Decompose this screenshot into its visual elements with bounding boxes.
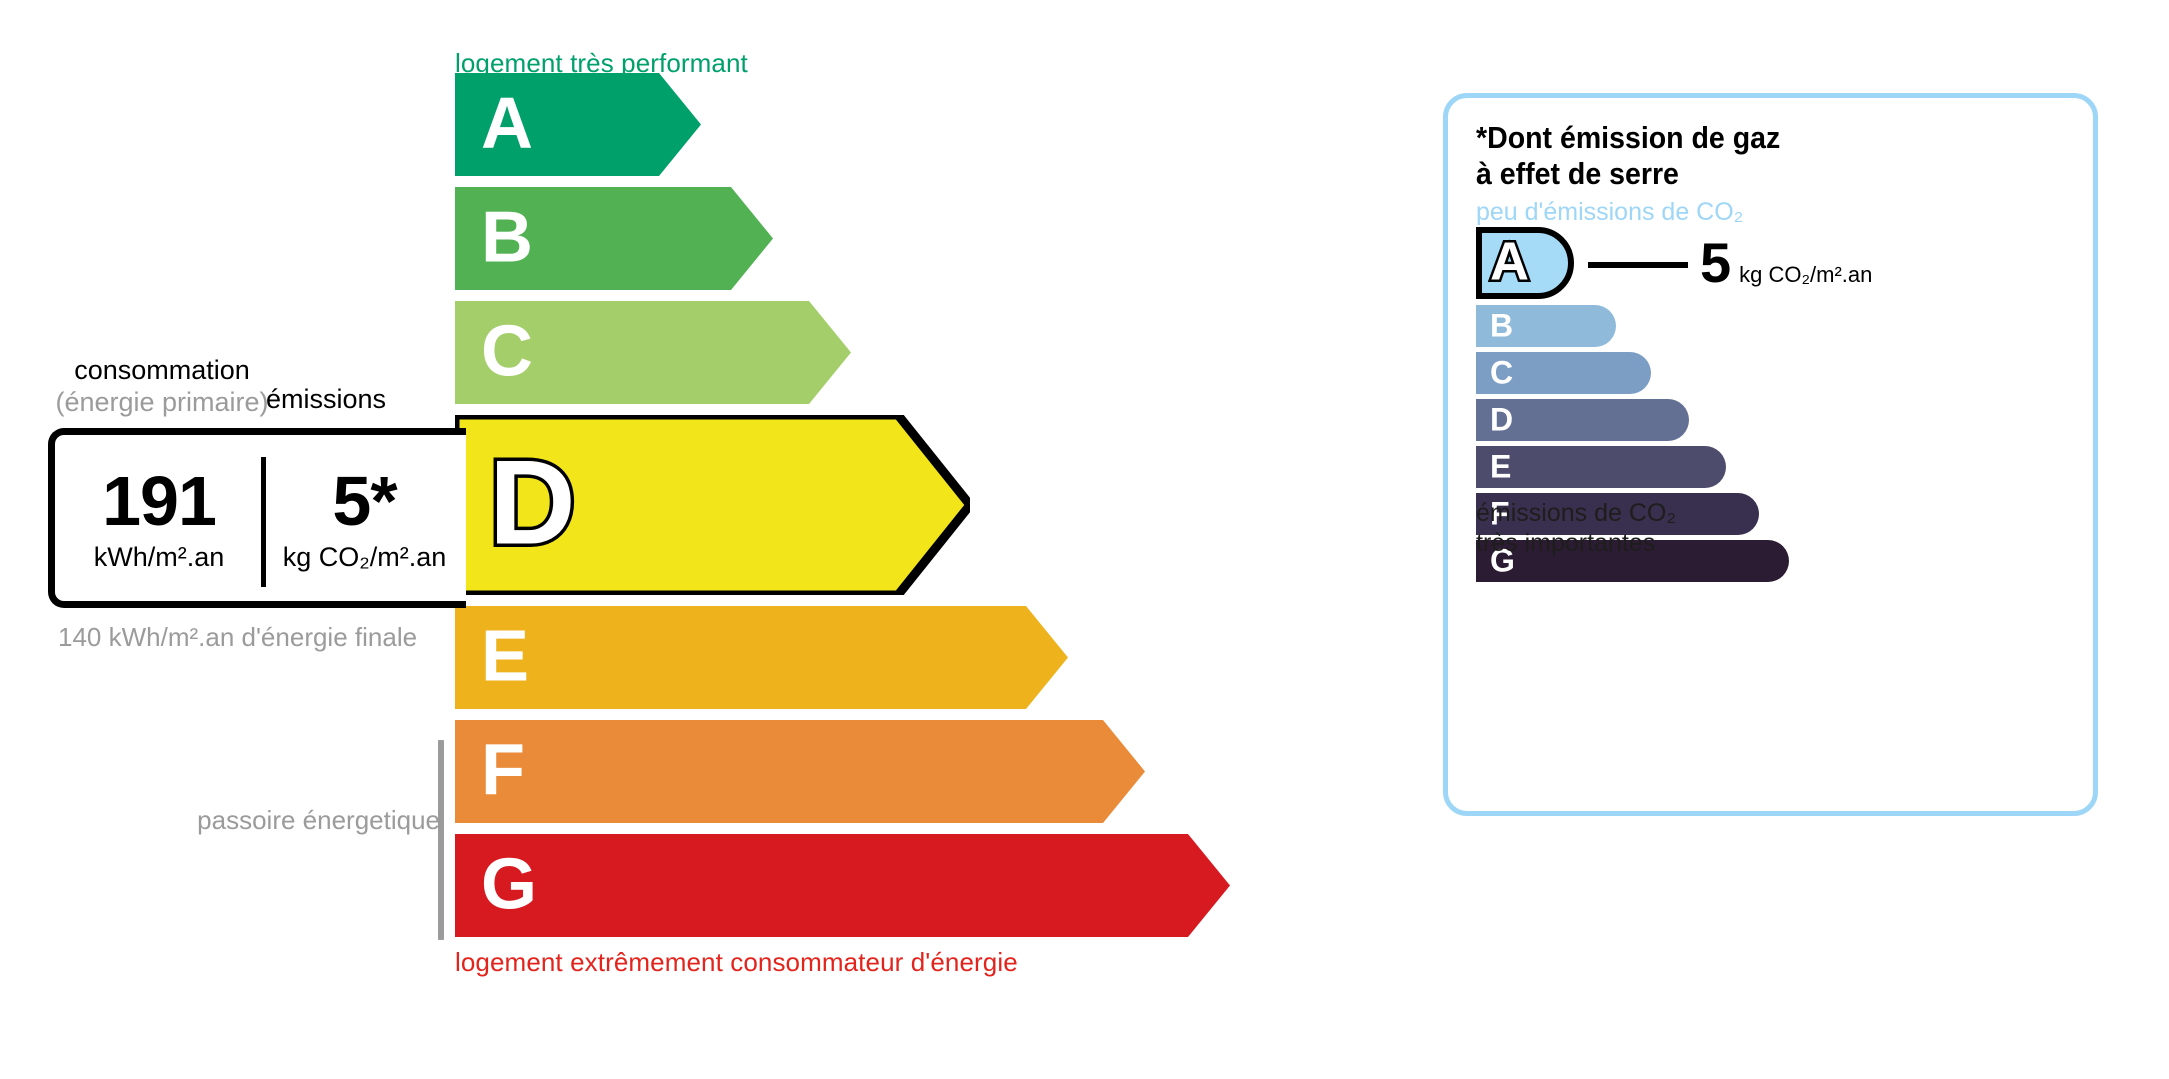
ges-bar-row-a-current[interactable]: A 5 kg CO₂/m².an [1476, 227, 2076, 299]
energy-bars-list: A B C D E F G [455, 73, 1355, 937]
emissions-header: émissions [266, 384, 386, 416]
energy-bar-row-a[interactable]: A [455, 73, 1355, 176]
ges-value: 5 [1700, 235, 1730, 291]
ges-bar-letter-a: A [1490, 234, 1529, 288]
consumption-header-sub: (énergie primaire) [52, 387, 272, 419]
energy-bar-row-b[interactable]: B [455, 187, 1355, 290]
energy-bar-letter-e: E [481, 620, 529, 692]
ges-bar-letter-b: B [1490, 309, 1513, 341]
consumption-value-cell: 191 kWh/m².an [55, 435, 263, 601]
ges-bar-row-d[interactable]: D [1476, 399, 2076, 441]
energy-bar-letter-b: B [481, 201, 533, 273]
passoire-energetique-label: passoire énergetique [160, 805, 440, 837]
energy-bar-row-f[interactable]: F [455, 720, 1355, 823]
energy-bar-letter-g: G [481, 848, 537, 920]
energy-bar-row-e[interactable]: E [455, 606, 1355, 709]
energy-bar-letter-f: F [481, 734, 525, 806]
passoire-energetique-marker [438, 740, 444, 940]
arrow-shape-g [455, 834, 1230, 937]
energy-bar-letter-a: A [481, 87, 533, 159]
consumption-header: consommation (énergie primaire) [52, 355, 272, 419]
ges-panel-title: *Dont émission de gaz à effet de serre [1476, 120, 1780, 192]
ges-bar-row-b[interactable]: B [1476, 305, 2076, 347]
scale-bottom-caption: logement extrêmement consommateur d'éner… [455, 947, 1018, 978]
emissions-value-cell: 5* kg CO₂/m².an [263, 435, 466, 601]
energy-bar-letter-d: D [489, 443, 576, 563]
ges-bar-shape-e [1476, 446, 1726, 488]
arrow-shape-f [455, 720, 1145, 823]
ges-bar-row-e[interactable]: E [1476, 446, 2076, 488]
arrow-shape-e [455, 606, 1068, 709]
energy-bar-row-c[interactable]: C [455, 301, 1355, 404]
emissions-unit: kg CO₂/m².an [283, 544, 447, 571]
consumption-unit: kWh/m².an [94, 544, 225, 571]
ges-bar-letter-c: C [1490, 356, 1513, 388]
energy-bar-row-d-current[interactable]: D [455, 415, 1355, 595]
ges-leader-line [1588, 262, 1688, 268]
energy-performance-scale: logement très performant A B C D E F [0, 0, 1400, 1079]
ges-bottom-caption: émissions de CO₂ très importantes [1476, 498, 1676, 558]
ges-bar-row-c[interactable]: C [1476, 352, 2076, 394]
ges-bar-letter-d: D [1490, 403, 1513, 435]
ges-top-caption: peu d'émissions de CO₂ [1476, 198, 1743, 227]
emissions-value: 5* [332, 466, 396, 536]
ges-value-callout: 5 kg CO₂/m².an [1700, 235, 1872, 291]
final-energy-note: 140 kWh/m².an d'énergie finale [58, 622, 417, 654]
ges-bar-letter-e: E [1490, 450, 1511, 482]
consumption-value: 191 [102, 466, 216, 536]
energy-bar-letter-c: C [481, 315, 533, 387]
ges-co2-panel: *Dont émission de gaz à effet de serre p… [1443, 93, 2098, 816]
consumption-header-main: consommation [74, 355, 250, 385]
value-box: 191 kWh/m².an 5* kg CO₂/m².an [48, 428, 466, 608]
energy-bar-row-g[interactable]: G [455, 834, 1355, 937]
ges-value-unit: kg CO₂/m².an [1739, 262, 1872, 288]
